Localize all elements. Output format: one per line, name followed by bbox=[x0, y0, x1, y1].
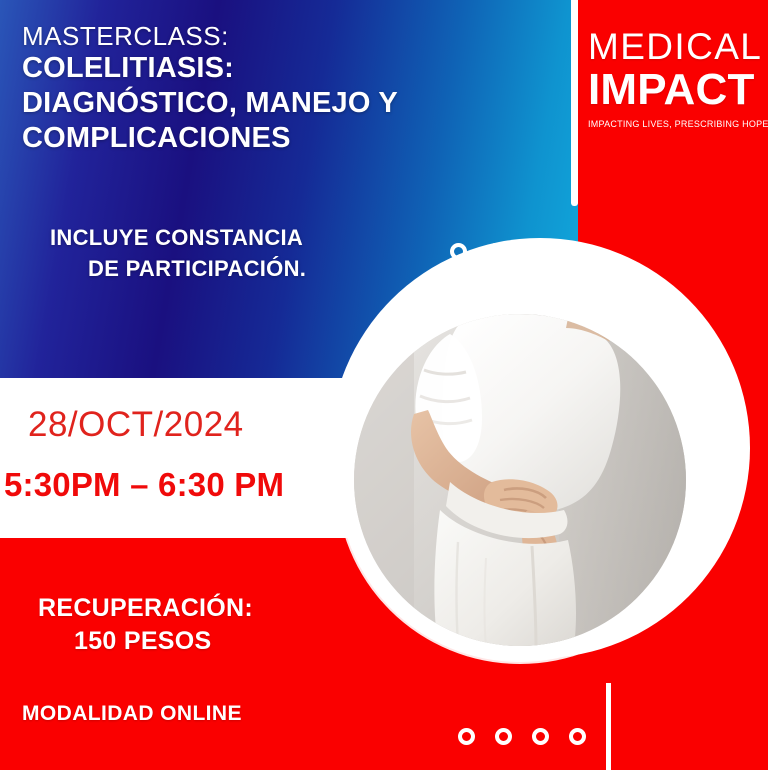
dot-icon bbox=[487, 243, 504, 260]
certificate-note: INCLUYE CONSTANCIA DE PARTICIPACIÓN. bbox=[50, 222, 450, 284]
title-line-3: COMPLICACIONES bbox=[22, 121, 542, 156]
dot-icon bbox=[561, 243, 578, 260]
event-date: 28/OCT/2024 bbox=[28, 405, 244, 445]
title-line-1: COLELITIASIS: bbox=[22, 51, 542, 86]
logo-tagline: IMPACTING LIVES, PRESCRIBING HOPE bbox=[588, 119, 764, 129]
poster-canvas: MASTERCLASS: COLELITIASIS: DIAGNÓSTICO, … bbox=[0, 0, 768, 770]
dot-icon bbox=[458, 728, 475, 745]
dot-icon bbox=[569, 728, 586, 745]
brand-logo: MEDICAL IMPACT IMPACTING LIVES, PRESCRIB… bbox=[588, 28, 764, 129]
kicker-text: MASTERCLASS: bbox=[22, 22, 542, 51]
decor-dots-bottom bbox=[458, 728, 586, 745]
dot-icon bbox=[524, 243, 541, 260]
circular-photo-frame bbox=[338, 298, 702, 662]
vertical-divider-bottom bbox=[606, 683, 611, 770]
modality-text: MODALIDAD ONLINE bbox=[22, 702, 242, 726]
headline-block: MASTERCLASS: COLELITIASIS: DIAGNÓSTICO, … bbox=[22, 22, 542, 156]
photo-illustration bbox=[354, 314, 686, 646]
abdomen-pain-photo bbox=[354, 314, 686, 646]
logo-word-impact: IMPACT bbox=[588, 68, 764, 113]
dot-icon bbox=[450, 243, 467, 260]
event-time: 5:30PM – 6:30 PM bbox=[4, 466, 284, 504]
certificate-note-line-1: INCLUYE CONSTANCIA bbox=[50, 222, 450, 253]
logo-word-medical: MEDICAL bbox=[588, 28, 764, 66]
title-line-2: DIAGNÓSTICO, MANEJO Y bbox=[22, 86, 542, 121]
vertical-divider-top bbox=[571, 0, 578, 206]
price-amount: 150 PESOS bbox=[38, 625, 338, 658]
decor-dots-top bbox=[450, 243, 578, 260]
price-label: RECUPERACIÓN: bbox=[38, 592, 338, 625]
certificate-note-line-2: DE PARTICIPACIÓN. bbox=[50, 253, 450, 284]
price-block: RECUPERACIÓN: 150 PESOS bbox=[38, 592, 338, 658]
dot-icon bbox=[495, 728, 512, 745]
dot-icon bbox=[532, 728, 549, 745]
